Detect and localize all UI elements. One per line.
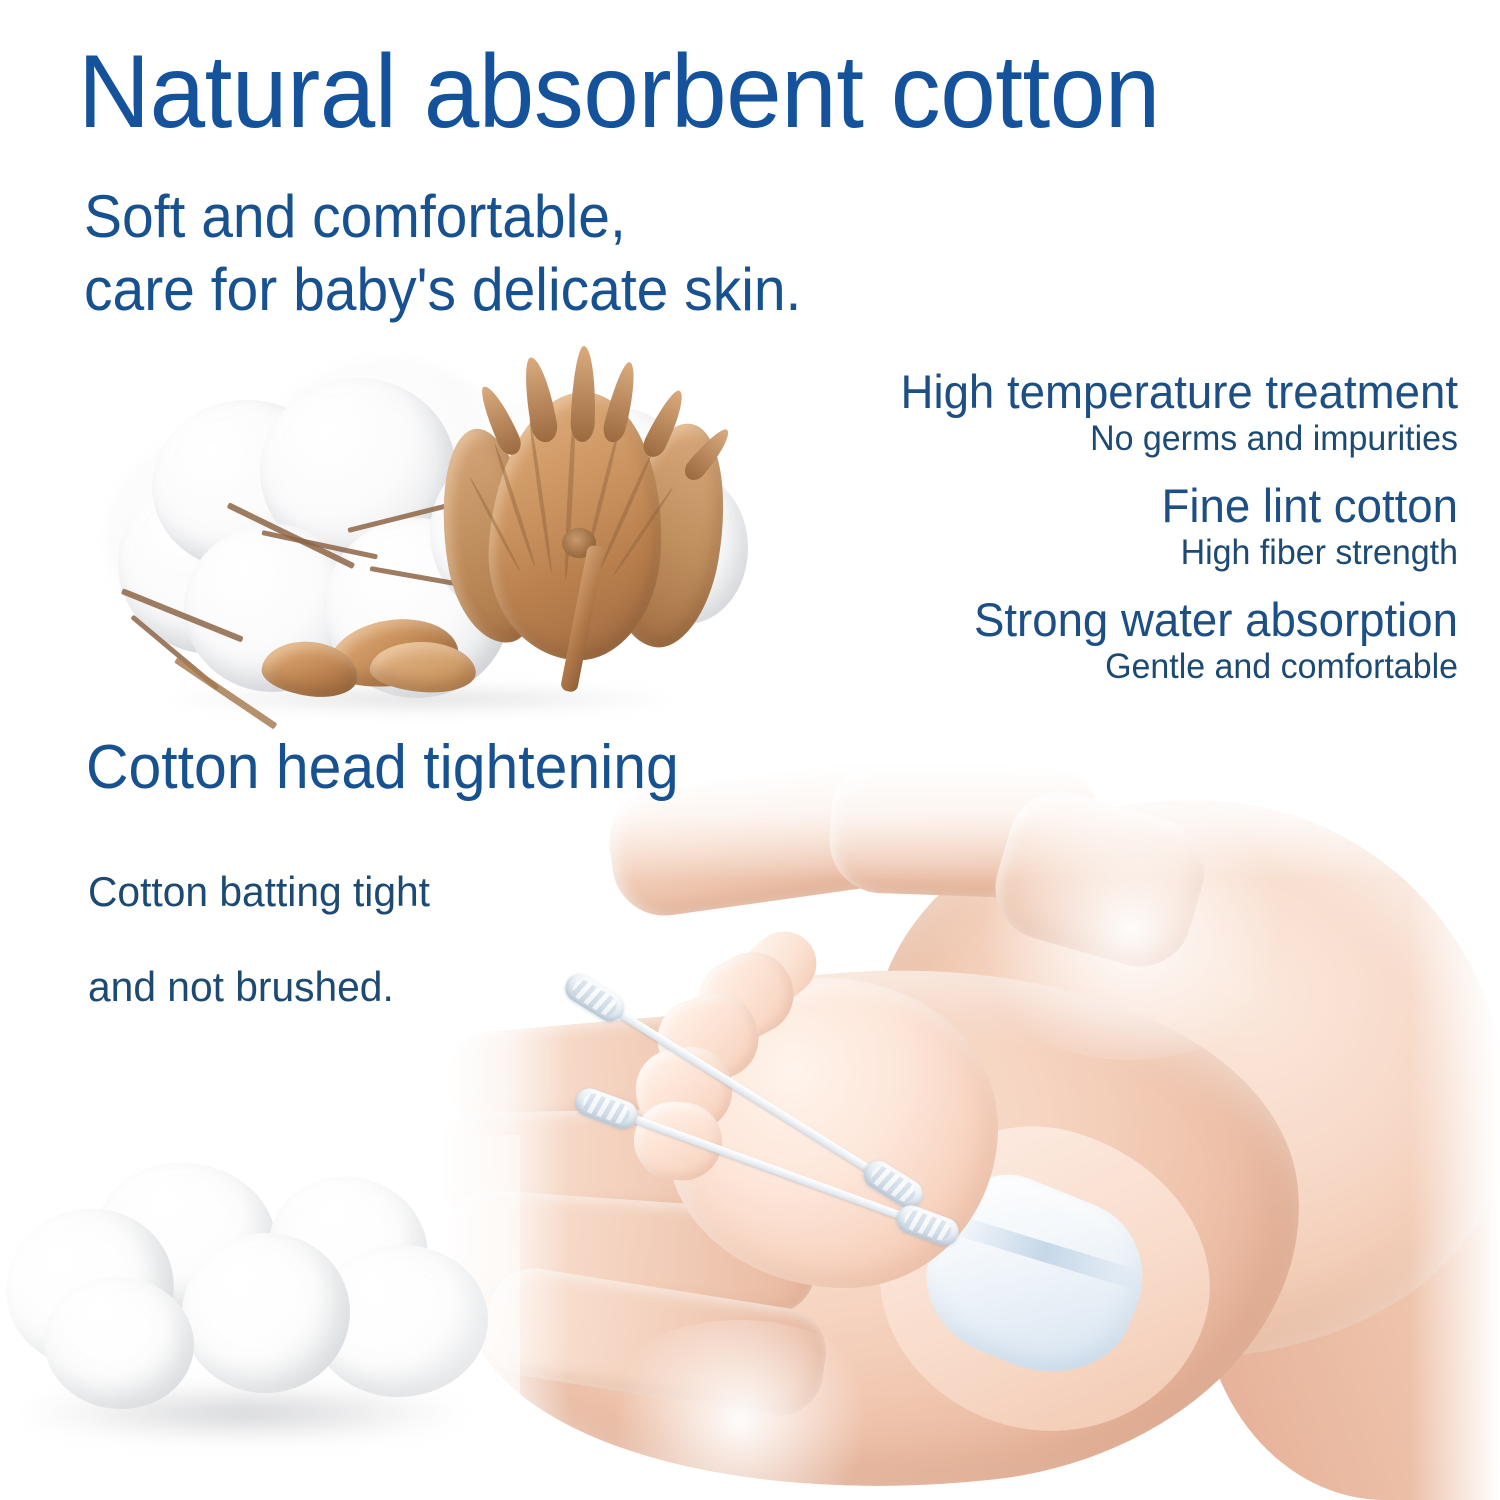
hands-holding-baby-photo	[440, 760, 1500, 1500]
cotton-balls-photo	[0, 1135, 520, 1500]
page-title: Natural absorbent cotton	[78, 40, 1160, 144]
feature-heading-fine-lint: Fine lint cotton	[721, 482, 1458, 529]
swab-tip	[560, 969, 629, 1027]
feature-subtext-water-absorption: Gentle and comfortable	[721, 649, 1458, 684]
feature-subtext-high-temperature: No germs and impurities	[721, 421, 1458, 456]
section2-body: Cotton batting tight and not brushed.	[88, 845, 430, 1034]
subtitle-line-1: Soft and comfortable,	[84, 180, 801, 253]
cuff-band	[949, 1214, 1142, 1290]
feature-heading-high-temperature: High temperature treatment	[721, 368, 1458, 415]
cotton-boll-photo	[112, 352, 728, 730]
feature-heading-water-absorption: Strong water absorption	[721, 596, 1458, 643]
subtitle: Soft and comfortable, care for baby's de…	[84, 180, 801, 326]
subtitle-line-2: care for baby's delicate skin.	[84, 253, 801, 326]
photo-fade-right	[1410, 760, 1500, 1500]
dried-cotton-husk	[442, 370, 732, 670]
feature-subtext-fine-lint: High fiber strength	[721, 535, 1458, 570]
section2-body-line-1: Cotton batting tight	[88, 845, 430, 940]
section2-body-line-2: and not brushed.	[88, 940, 430, 1035]
feature-list: High temperature treatment No germs and …	[698, 368, 1458, 684]
photo-fade	[0, 1135, 520, 1500]
husk-spike	[570, 346, 597, 443]
section2-heading: Cotton head tightening	[86, 737, 679, 799]
